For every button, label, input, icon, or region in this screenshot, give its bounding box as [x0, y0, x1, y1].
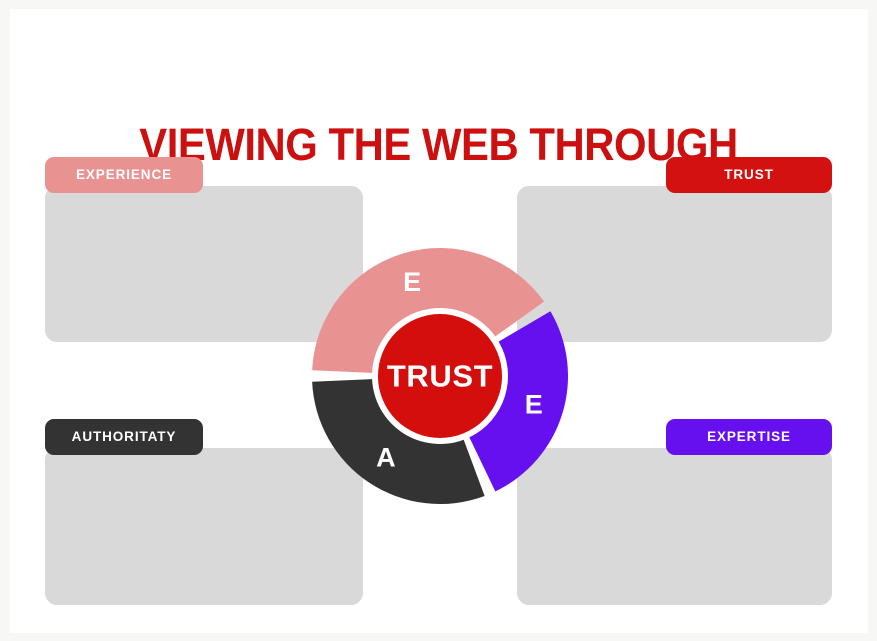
donut-center-label: TRUST — [387, 359, 493, 394]
donut-svg: EEA TRUST — [307, 243, 573, 509]
eeat-donut-chart: EEA TRUST — [307, 243, 573, 509]
card-trust-tab[interactable]: TRUST — [666, 157, 832, 193]
donut-label-authority: A — [376, 443, 396, 473]
donut-label-expertise: E — [525, 390, 543, 420]
card-experience-tab[interactable]: EXPERIENCE — [45, 157, 203, 193]
card-authority-tab[interactable]: AUTHORITATY — [45, 419, 203, 455]
infographic-canvas: VIEWING THE WEB THROUGH THE E-E-A-T LENS… — [0, 0, 877, 641]
donut-label-experience: E — [403, 267, 421, 297]
card-expertise-tab[interactable]: EXPERTISE — [666, 419, 832, 455]
